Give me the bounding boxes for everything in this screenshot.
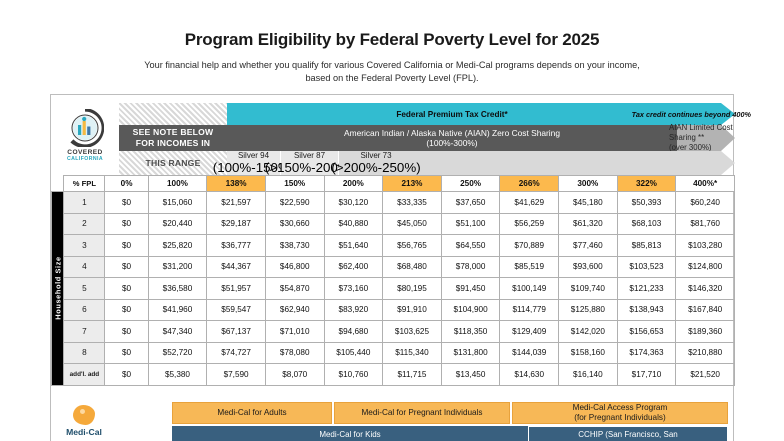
cell-r3c6: $56,765 (383, 235, 442, 257)
header-col-322: 322% (617, 176, 676, 192)
cell-r6c10: $138,943 (617, 299, 676, 321)
cell-r5c7: $91,450 (441, 278, 500, 300)
cell-r6c1: $0 (105, 299, 148, 321)
cell-r3c7: $64,550 (441, 235, 500, 257)
table-row: 3 $0 $25,820 $36,777 $38,730 $51,640 $56… (52, 235, 735, 257)
medi-cal-blob-logo-icon (73, 405, 95, 425)
row-label-7: 7 (64, 321, 105, 343)
cell-r2c2: $20,440 (148, 213, 207, 235)
cell-r3c4: $38,730 (265, 235, 324, 257)
header-col-213: 213% (383, 176, 442, 192)
cell-r2c7: $51,100 (441, 213, 500, 235)
cell-r3c5: $51,640 (324, 235, 383, 257)
header-col-0: 0% (105, 176, 148, 192)
bar-medi-cal-kids: Medi-Cal for Kids (172, 426, 528, 441)
bar-medi-cal-pregnant: Medi-Cal for Pregnant Individuals (334, 402, 510, 424)
cell-r9c9: $16,140 (559, 364, 618, 386)
cell-r4c1: $0 (105, 256, 148, 278)
header-col-250: 250% (441, 176, 500, 192)
cell-r8c2: $52,720 (148, 342, 207, 364)
cell-r4c2: $31,200 (148, 256, 207, 278)
cell-r5c8: $100,149 (500, 278, 559, 300)
cell-r4c8: $85,519 (500, 256, 559, 278)
segment-silver-87: Silver 87 (>150%-200%) (281, 151, 339, 175)
cell-r3c11: $103,280 (676, 235, 735, 257)
cell-r6c4: $62,940 (265, 299, 324, 321)
aian-limited-text-wrap: AIAN Limited Cost Sharing ** (over 300%) (559, 125, 735, 151)
cell-r6c7: $104,900 (441, 299, 500, 321)
cell-r8c11: $210,880 (676, 342, 735, 364)
cell-r9c4: $8,070 (265, 364, 324, 386)
cell-r3c2: $25,820 (148, 235, 207, 257)
cell-r4c3: $44,367 (207, 256, 266, 278)
cell-r6c5: $83,920 (324, 299, 383, 321)
cell-r1c9: $45,180 (559, 192, 618, 214)
row-label-1: 1 (64, 192, 105, 214)
cell-r7c10: $156,653 (617, 321, 676, 343)
cell-r4c7: $78,000 (441, 256, 500, 278)
cell-r4c4: $46,800 (265, 256, 324, 278)
silver-73-name: Silver 73 (360, 151, 391, 161)
cell-r8c9: $158,160 (559, 342, 618, 364)
table-row: add'l. add $0 $5,380 $7,590 $8,070 $10,7… (52, 364, 735, 386)
header-percent-fpl: % FPL (64, 176, 105, 192)
header-col-150: 150% (265, 176, 324, 192)
table-row: 7 $0 $47,340 $67,137 $71,010 $94,680 $10… (52, 321, 735, 343)
cell-r3c1: $0 (105, 235, 148, 257)
cell-r5c1: $0 (105, 278, 148, 300)
table-row: 8 $0 $52,720 $74,727 $78,080 $105,440 $1… (52, 342, 735, 364)
table-header-row: % FPL 0% 100% 138% 150% 200% 213% 250% 2… (52, 176, 735, 192)
medi-cal-logo-cell: Medi-Cal (50, 400, 118, 441)
cell-r3c3: $36,777 (207, 235, 266, 257)
silver-87-name: Silver 87 (294, 151, 325, 161)
cell-r2c6: $45,050 (383, 213, 442, 235)
cell-r6c3: $59,547 (207, 299, 266, 321)
cell-r3c10: $85,813 (617, 235, 676, 257)
cell-r2c10: $68,103 (617, 213, 676, 235)
cell-r7c11: $189,360 (676, 321, 735, 343)
cell-r2c11: $81,760 (676, 213, 735, 235)
cell-r5c4: $54,870 (265, 278, 324, 300)
medi-cal-wordmark: Medi-Cal (66, 427, 102, 437)
bar-medi-cal-adults: Medi-Cal for Adults (172, 402, 332, 424)
aian-limited-label: AIAN Limited Cost Sharing ** (669, 123, 735, 143)
row-label-8: 8 (64, 342, 105, 364)
aian-zero-label: American Indian / Alaska Native (AIAN) Z… (344, 128, 560, 138)
covered-california-logo-icon (66, 109, 104, 147)
covered-california-logo-cell: COVERED CALIFORNIA (51, 95, 119, 175)
cell-r7c2: $47,340 (148, 321, 207, 343)
cell-r1c3: $21,597 (207, 192, 266, 214)
cell-r7c5: $94,680 (324, 321, 383, 343)
cell-r8c8: $144,039 (500, 342, 559, 364)
fptc-label: Federal Premium Tax Credit* (396, 110, 507, 119)
cell-r8c6: $115,340 (383, 342, 442, 364)
tax-credit-note-wrap: Tax credit continues beyond 400% (599, 103, 759, 125)
cell-r1c8: $41,629 (500, 192, 559, 214)
row-label-5: 5 (64, 278, 105, 300)
cell-r2c5: $40,880 (324, 213, 383, 235)
table-row: 2 $0 $20,440 $29,187 $30,660 $40,880 $45… (52, 213, 735, 235)
cell-r4c5: $62,400 (324, 256, 383, 278)
medi-cal-section: Medi-Cal Medi-Cal for Adults Medi-Cal fo… (50, 400, 734, 441)
cell-r8c10: $174,363 (617, 342, 676, 364)
header-col-400: 400%* (676, 176, 735, 192)
cell-r2c9: $61,320 (559, 213, 618, 235)
cell-r7c6: $103,625 (383, 321, 442, 343)
table-row: 4 $0 $31,200 $44,367 $46,800 $62,400 $68… (52, 256, 735, 278)
header-col-266: 266% (500, 176, 559, 192)
cell-r9c11: $21,520 (676, 364, 735, 386)
page-subtitle: Your financial help and whether you qual… (132, 59, 652, 85)
cell-r6c6: $91,910 (383, 299, 442, 321)
cell-r8c3: $74,727 (207, 342, 266, 364)
cell-r4c11: $124,800 (676, 256, 735, 278)
cell-r9c6: $11,715 (383, 364, 442, 386)
logo-wordmark-line2: CALIFORNIA (67, 156, 103, 162)
band3-arrow-tip (721, 151, 735, 175)
logo-wordmark-line1: COVERED (67, 149, 102, 156)
silver-94-name: Silver 94 (238, 151, 269, 161)
title-block: Program Eligibility by Federal Poverty L… (0, 0, 784, 85)
cell-r5c3: $51,957 (207, 278, 266, 300)
fpl-eligibility-table: % FPL 0% 100% 138% 150% 200% 213% 250% 2… (51, 175, 735, 386)
table-row: 5 $0 $36,580 $51,957 $54,870 $73,160 $80… (52, 278, 735, 300)
cell-r8c1: $0 (105, 342, 148, 364)
cell-r1c1: $0 (105, 192, 148, 214)
cell-r5c2: $36,580 (148, 278, 207, 300)
cell-r2c3: $29,187 (207, 213, 266, 235)
header-col-300: 300% (559, 176, 618, 192)
cell-r9c5: $10,760 (324, 364, 383, 386)
row-label-3: 3 (64, 235, 105, 257)
header-col-138: 138% (207, 176, 266, 192)
cell-r1c7: $37,650 (441, 192, 500, 214)
cell-r7c8: $129,409 (500, 321, 559, 343)
band-aian-cost-sharing: American Indian / Alaska Native (AIAN) Z… (119, 125, 735, 151)
cell-r3c9: $77,460 (559, 235, 618, 257)
medi-cal-bars: Medi-Cal for Adults Medi-Cal for Pregnan… (118, 400, 734, 441)
cell-r6c8: $114,779 (500, 299, 559, 321)
page-title: Program Eligibility by Federal Poverty L… (0, 30, 784, 50)
cell-r2c8: $56,259 (500, 213, 559, 235)
cell-r5c11: $146,320 (676, 278, 735, 300)
cell-r7c4: $71,010 (265, 321, 324, 343)
cell-r4c6: $68,480 (383, 256, 442, 278)
cell-r7c9: $142,020 (559, 321, 618, 343)
cell-r4c10: $103,523 (617, 256, 676, 278)
cell-r9c7: $13,450 (441, 364, 500, 386)
row-label-additional: add'l. add (64, 364, 105, 386)
header-corner-blank (52, 176, 64, 192)
cell-r9c1: $0 (105, 364, 148, 386)
cell-r2c4: $30,660 (265, 213, 324, 235)
cell-r9c3: $7,590 (207, 364, 266, 386)
tax-credit-note: Tax credit continues beyond 400% (632, 110, 751, 119)
cell-r5c10: $121,233 (617, 278, 676, 300)
cell-r5c6: $80,195 (383, 278, 442, 300)
cell-r3c8: $70,889 (500, 235, 559, 257)
cell-r6c2: $41,960 (148, 299, 207, 321)
cell-r2c1: $0 (105, 213, 148, 235)
cell-r4c9: $93,600 (559, 256, 618, 278)
cell-r5c9: $109,740 (559, 278, 618, 300)
cell-r1c11: $60,240 (676, 192, 735, 214)
aian-zero-range: (100%-300%) (426, 138, 477, 148)
cell-r9c8: $14,630 (500, 364, 559, 386)
cell-r9c10: $17,710 (617, 364, 676, 386)
program-bands: Federal Premium Tax Credit* Tax credit c… (119, 95, 735, 175)
bar-medi-cal-access-program: Medi-Cal Access Program (for Pregnant In… (512, 402, 728, 424)
cell-r6c9: $125,880 (559, 299, 618, 321)
table-body: Household Size 1 $0 $15,060 $21,597 $22,… (52, 192, 735, 386)
cell-r1c2: $15,060 (148, 192, 207, 214)
row-label-6: 6 (64, 299, 105, 321)
cell-r5c5: $73,160 (324, 278, 383, 300)
cell-r1c5: $30,120 (324, 192, 383, 214)
cell-r8c4: $78,080 (265, 342, 324, 364)
band-federal-premium-tax-credit: Federal Premium Tax Credit* Tax credit c… (119, 103, 735, 125)
table-row: Household Size 1 $0 $15,060 $21,597 $22,… (52, 192, 735, 214)
bar-cchip: CCHIP (San Francisco, San (528, 426, 728, 441)
header-col-200: 200% (324, 176, 383, 192)
band-silver-tiers: Silver 94 (100%-150%) Silver 87 (>150%-2… (119, 151, 735, 175)
cell-r1c4: $22,590 (265, 192, 324, 214)
segment-silver-73: Silver 73 (>200%-250%) (339, 151, 413, 175)
row-label-4: 4 (64, 256, 105, 278)
cell-r8c7: $131,800 (441, 342, 500, 364)
silver-73-range: (>200%-250%) (331, 160, 420, 175)
row-label-2: 2 (64, 213, 105, 235)
cell-r9c2: $5,380 (148, 364, 207, 386)
cell-r7c7: $118,350 (441, 321, 500, 343)
cell-r7c3: $67,137 (207, 321, 266, 343)
table-row: 6 $0 $41,960 $59,547 $62,940 $83,920 $91… (52, 299, 735, 321)
cell-r1c10: $50,393 (617, 192, 676, 214)
infographic-page: Program Eligibility by Federal Poverty L… (0, 0, 784, 441)
header-col-100: 100% (148, 176, 207, 192)
chart-frame: COVERED CALIFORNIA Federal Premium Tax C… (50, 94, 734, 441)
cell-r6c11: $167,840 (676, 299, 735, 321)
cell-r8c5: $105,440 (324, 342, 383, 364)
cell-r7c1: $0 (105, 321, 148, 343)
cell-r1c6: $33,335 (383, 192, 442, 214)
household-size-axis-label: Household Size (52, 192, 64, 386)
